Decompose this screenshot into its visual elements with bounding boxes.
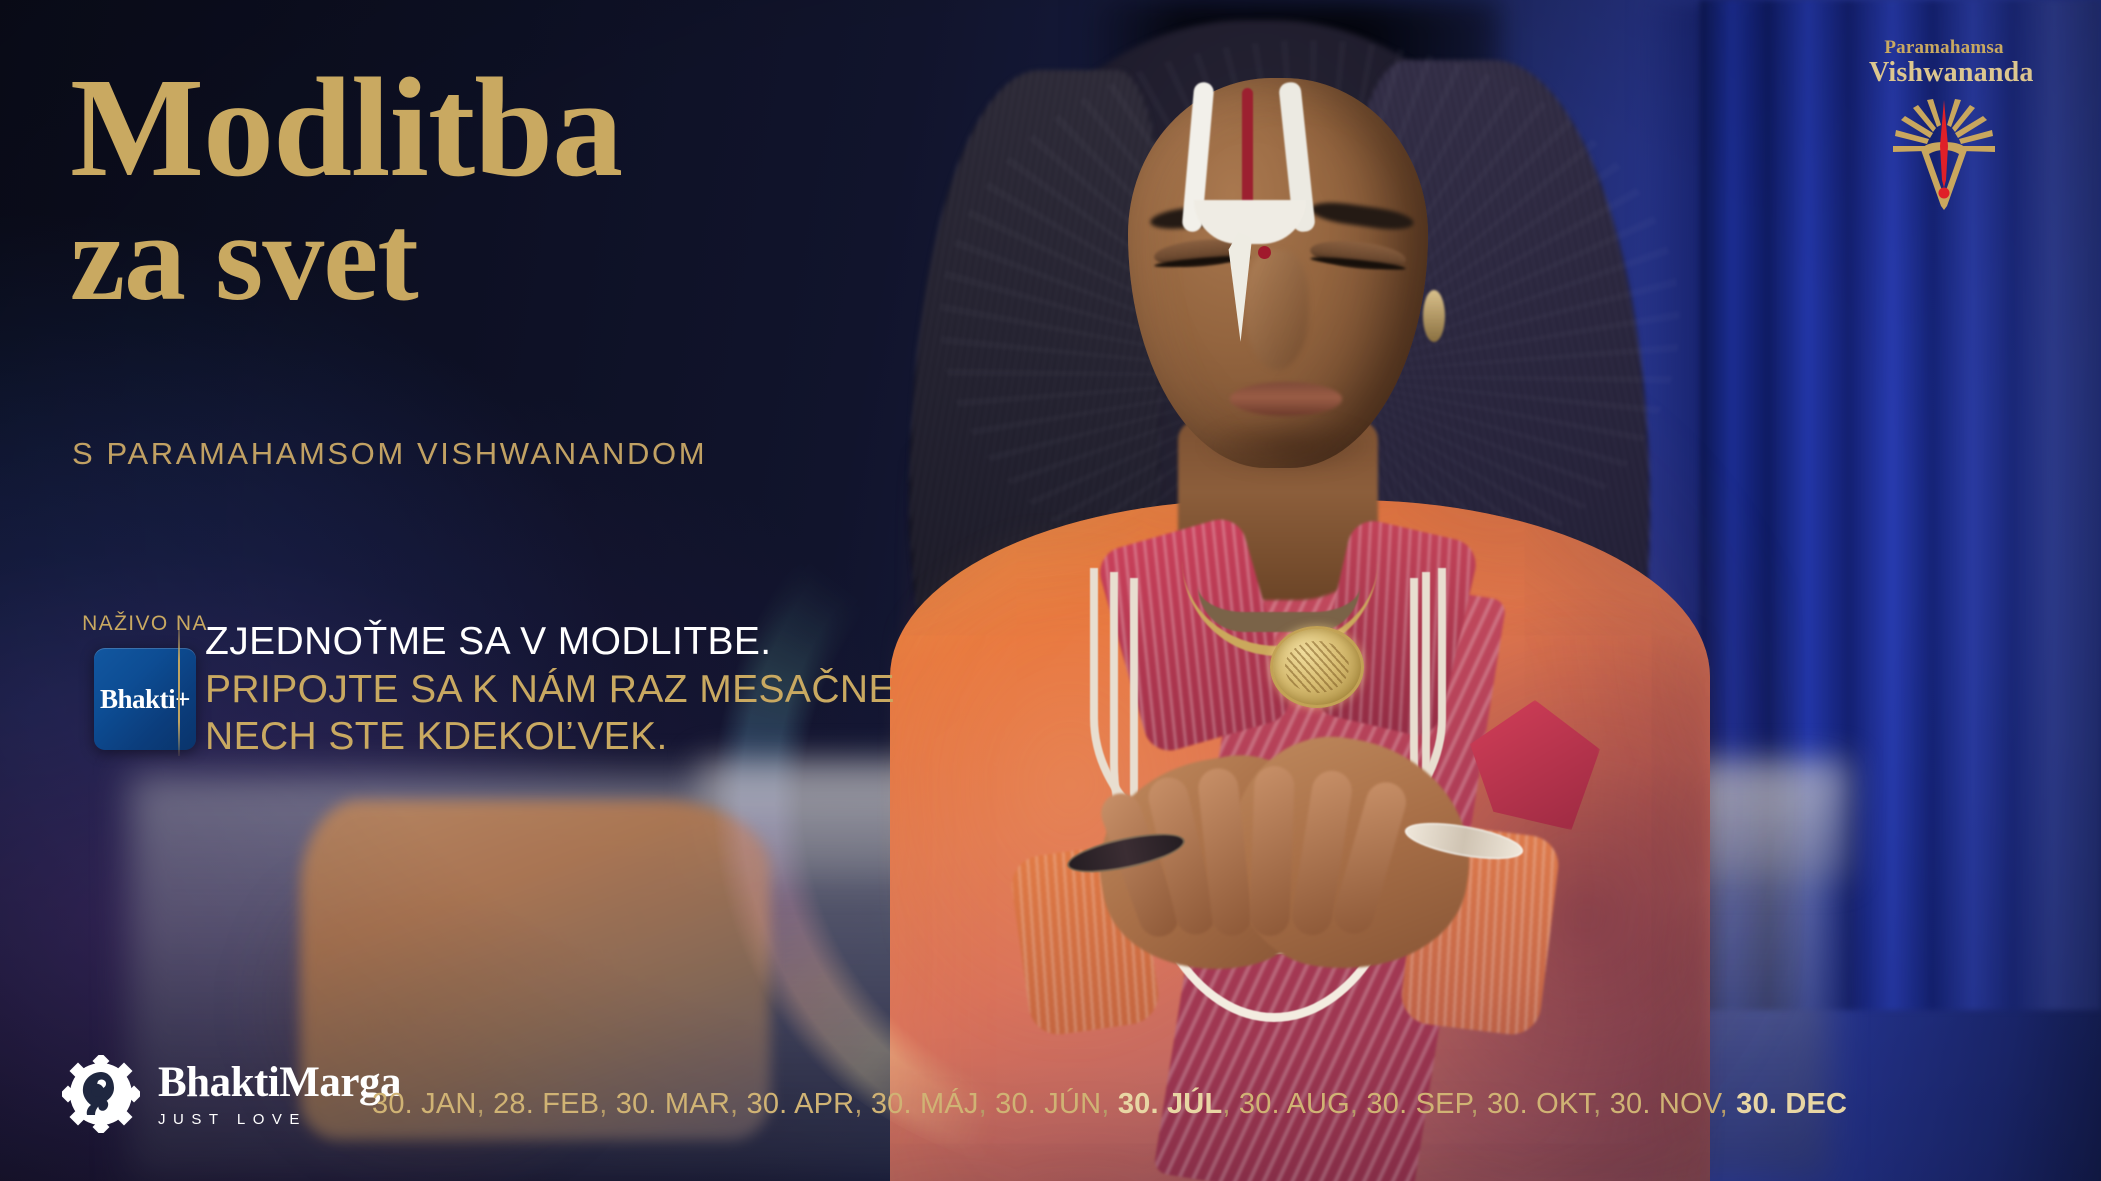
schedule-date: 30. DEC — [1736, 1088, 1847, 1120]
date-separator: , — [730, 1088, 747, 1120]
date-separator: , — [1470, 1088, 1487, 1120]
message-line-3: NECH STE KDEKOĽVEK. — [205, 713, 895, 761]
headline-line-1: Modlitba — [70, 62, 622, 193]
schedule-date: 30. SEP — [1366, 1088, 1470, 1120]
paramahamsa-vishwananda-logo: Paramahamsa Vishwananda — [1869, 38, 2019, 212]
subtitle: S PARAMAHAMSOM VISHWANANDOM — [72, 436, 707, 472]
prayer-for-the-world-banner: Modlitba za svet S PARAMAHAMSOM VISHWANA… — [0, 0, 2101, 1181]
invitation-message: ZJEDNOŤME SA V MODLITBE. PRIPOJTE SA K N… — [205, 618, 895, 761]
date-separator: , — [1222, 1088, 1239, 1120]
live-on-label: NAŽIVO NA — [70, 612, 220, 636]
headline-line-2: za svet — [70, 197, 622, 319]
schedule-date: 30. OKT — [1487, 1088, 1593, 1120]
date-separator: , — [1350, 1088, 1367, 1120]
date-separator: , — [599, 1088, 616, 1120]
flame-trident-emblem-icon — [1889, 94, 1999, 212]
date-separator: , — [1593, 1088, 1610, 1120]
schedule-date: 30. JÚL — [1118, 1088, 1223, 1120]
schedule-date: 30. JÚN — [995, 1088, 1101, 1120]
bhaktimarga-logo: BhaktiMarga JUST LOVE — [62, 1055, 401, 1133]
teacher-logo-line-1: Paramahamsa — [1869, 38, 2019, 57]
org-logo-name: BhaktiMarga — [158, 1061, 401, 1104]
schedule-date: 30. MÁJ — [871, 1088, 979, 1120]
live-on-block: NAŽIVO NA Bhakti+ — [70, 612, 220, 750]
page-title: Modlitba za svet — [70, 62, 622, 318]
schedule-date: 30. NOV — [1610, 1088, 1720, 1120]
schedule-date: 30. APR — [747, 1088, 855, 1120]
date-separator: , — [477, 1088, 494, 1120]
schedule-dates-list: 30. JAN, 28. FEB, 30. MAR, 30. APR, 30. … — [372, 1088, 1847, 1121]
schedule-date: 28. FEB — [493, 1088, 599, 1120]
bhakti-plus-logo-button[interactable]: Bhakti+ — [94, 648, 196, 750]
schedule-date: 30. AUG — [1239, 1088, 1350, 1120]
lotus-peacock-mandala-icon — [62, 1055, 140, 1133]
schedule-date: 30. MAR — [616, 1088, 730, 1120]
teacher-logo-line-2: Vishwananda — [1869, 58, 2019, 88]
bhakti-plus-wordmark: Bhakti+ — [100, 684, 190, 715]
date-separator: , — [854, 1088, 871, 1120]
date-separator: , — [1101, 1088, 1118, 1120]
schedule-date: 30. JAN — [372, 1088, 477, 1120]
date-separator: , — [1720, 1088, 1737, 1120]
date-separator: , — [979, 1088, 996, 1120]
vertical-divider — [178, 620, 180, 756]
org-logo-tagline: JUST LOVE — [158, 1111, 401, 1128]
message-line-2: PRIPOJTE SA K NÁM RAZ MESAČNE — [205, 666, 895, 714]
message-line-1: ZJEDNOŤME SA V MODLITBE. — [205, 618, 895, 666]
